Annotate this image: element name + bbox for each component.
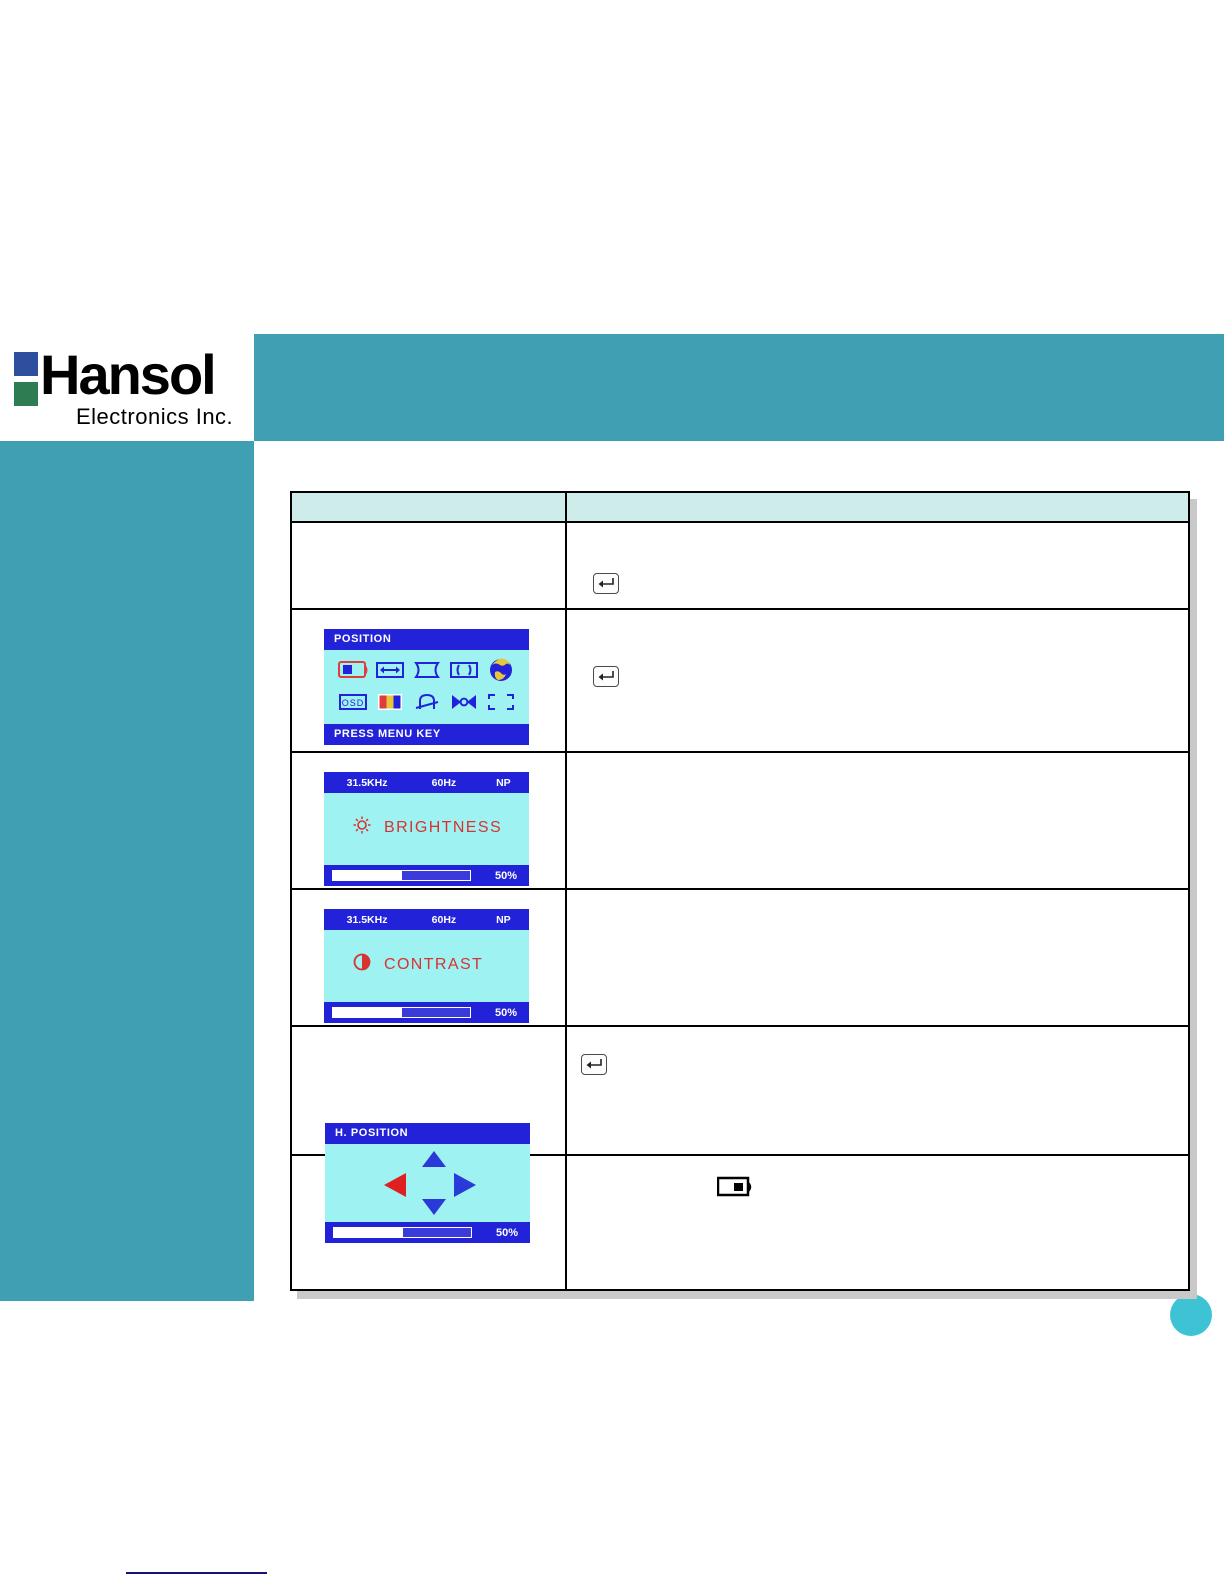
table-cell-left (292, 1156, 567, 1289)
osd-status-bar: 31.5KHz 60Hz NP (324, 909, 529, 930)
page-header-bar (254, 334, 1224, 441)
osd-slider[interactable]: 50% (324, 865, 529, 886)
table-cell-left (292, 523, 567, 608)
osd-instruction-table: POSITION (290, 491, 1190, 1291)
osd-slider-track[interactable] (332, 1007, 471, 1018)
table-cell-right (567, 1027, 1188, 1154)
brand-name: Hansol (40, 342, 215, 408)
table-row: POSITION (292, 610, 1188, 753)
table-cell-right (567, 610, 1188, 751)
table-row: 31.5KHz 60Hz NP CONTRAST (292, 890, 1188, 1027)
osd-slider-fill (333, 1008, 402, 1017)
osd-icon-grid: OSD (324, 650, 529, 724)
table-cell-left: 31.5KHz 60Hz NP CONTRAST (292, 890, 567, 1025)
osd-slider-value: 50% (471, 1007, 521, 1019)
footer-rule (126, 1572, 267, 1574)
table-row (292, 523, 1188, 610)
table-header-row (292, 493, 1188, 523)
contrast-osd: 31.5KHz 60Hz NP CONTRAST (324, 909, 529, 1023)
table-row (292, 1156, 1188, 1289)
osd-slider-fill (333, 871, 402, 880)
osd-slider[interactable]: 50% (324, 1002, 529, 1023)
table-cell-left: H. POSITION (292, 1027, 567, 1154)
table-cell-right (567, 890, 1188, 1025)
osd-status-bar: 31.5KHz 60Hz NP (324, 772, 529, 793)
contrast-circle-icon (352, 952, 372, 977)
osd-body: BRIGHTNESS (324, 793, 529, 865)
osd-title: H. POSITION (325, 1123, 530, 1144)
rotation-icon[interactable] (413, 691, 441, 718)
position-bw-icon[interactable] (717, 1176, 753, 1198)
pin-balance-icon[interactable] (449, 660, 479, 685)
enter-arrow-glyph (585, 1058, 603, 1071)
osd-icon[interactable]: OSD (338, 692, 368, 717)
osd-title: POSITION (324, 629, 529, 650)
corner-purity-icon[interactable] (486, 692, 516, 717)
pincushion-icon[interactable] (412, 660, 442, 685)
table-cell-right (567, 523, 1188, 608)
osd-label: BRIGHTNESS (384, 819, 502, 837)
osd-polarity: NP (478, 777, 529, 789)
osd-vfreq: 60Hz (410, 777, 478, 789)
osd-footer: PRESS MENU KEY (324, 724, 529, 745)
svg-text:OSD: OSD (341, 698, 364, 708)
brand-subtitle: Electronics Inc. (76, 404, 233, 430)
brightness-osd: 31.5KHz 60Hz NP BRIGHTNESS (324, 772, 529, 886)
table-cell-right (567, 1156, 1188, 1289)
page-number-dot (1170, 1294, 1212, 1336)
table-header-col2 (567, 493, 1188, 521)
osd-label: CONTRAST (384, 956, 483, 974)
table-cell-right (567, 753, 1188, 888)
enter-arrow-glyph (597, 577, 615, 590)
enter-arrow-glyph (597, 670, 615, 683)
osd-vfreq: 60Hz (410, 914, 478, 926)
position-menu-osd: POSITION (324, 629, 529, 745)
enter-key-icon[interactable] (593, 666, 619, 687)
enter-key-icon[interactable] (581, 1054, 607, 1075)
table-header-col1 (292, 493, 567, 521)
osd-hfreq: 31.5KHz (324, 914, 410, 926)
convergence-icon[interactable] (449, 692, 479, 717)
osd-hfreq: 31.5KHz (324, 777, 410, 789)
logo-square-blue (14, 352, 38, 376)
h-size-icon[interactable] (375, 660, 405, 685)
osd-slider-value: 50% (471, 870, 521, 882)
table-cell-left: 31.5KHz 60Hz NP BRIGHTNESS (292, 753, 567, 888)
table-row: 31.5KHz 60Hz NP BRIGHTNESS (292, 753, 1188, 890)
osd-body: CONTRAST (324, 930, 529, 1002)
h-position-icon[interactable] (338, 660, 368, 685)
brand-logo: Hansol Electronics Inc. (0, 334, 254, 441)
table-row: H. POSITION (292, 1027, 1188, 1156)
enter-key-icon[interactable] (593, 573, 619, 594)
logo-mark-icon (14, 352, 40, 408)
osd-slider-track[interactable] (332, 870, 471, 881)
osd-polarity: NP (478, 914, 529, 926)
color-bars-icon[interactable] (376, 692, 404, 717)
language-globe-icon[interactable] (488, 657, 514, 688)
table-cell-left: POSITION (292, 610, 567, 751)
logo-square-green (14, 382, 38, 406)
sidebar-panel (0, 441, 254, 1301)
sun-icon (352, 815, 372, 840)
